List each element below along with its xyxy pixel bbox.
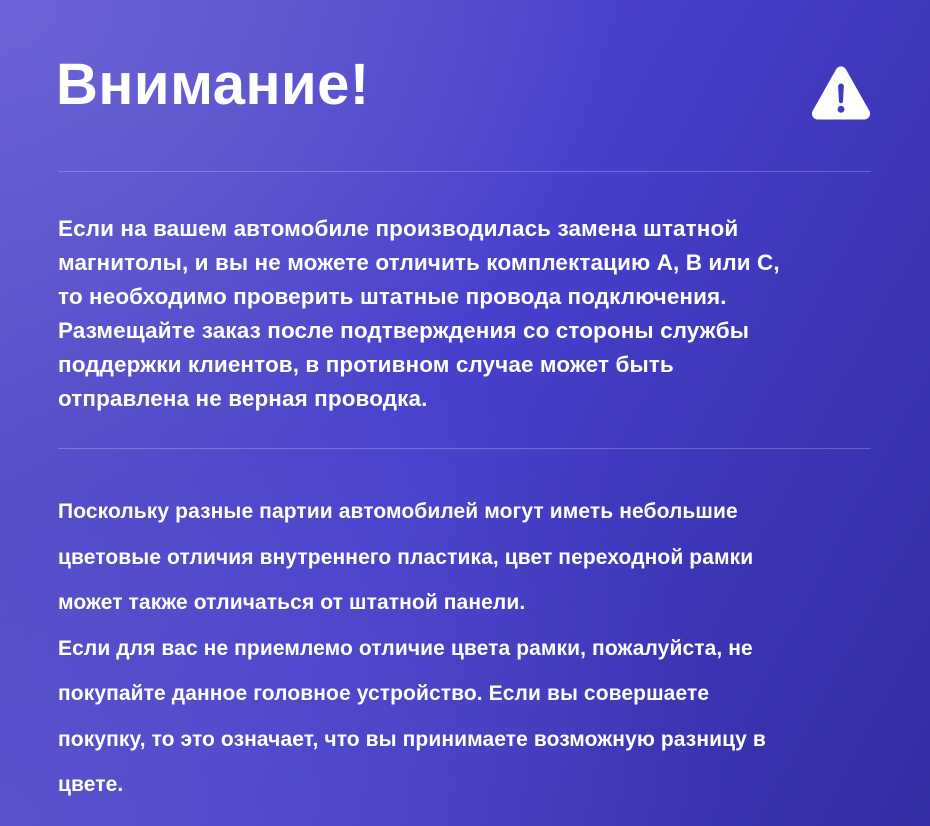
banner-header: Внимание! (56, 52, 872, 148)
text-line: покупайте данное головное устройство. Ес… (58, 671, 873, 717)
text-line: то необходимо проверить штатные провода … (58, 280, 858, 314)
text-line: Размещайте заказ после подтверждения со … (58, 314, 858, 348)
warning-text-second-paragraph-two: Если для вас не приемлемо отличие цвета … (58, 626, 873, 808)
warning-section-first: Если на вашем автомобиле производилась з… (58, 212, 858, 416)
text-line: цвете. (58, 762, 873, 808)
divider-middle (58, 448, 871, 449)
text-line: отправлена не верная проводка. (58, 382, 858, 416)
warning-triangle-icon (810, 66, 872, 124)
warning-text-first: Если на вашем автомобиле производилась з… (58, 212, 858, 416)
text-line: покупку, то это означает, что вы принима… (58, 717, 873, 763)
warning-text-second-paragraph-one: Поскольку разные партии автомобилей могу… (58, 489, 873, 626)
text-line: Если на вашем автомобиле производилась з… (58, 212, 858, 246)
text-line: может также отличаться от штатной панели… (58, 580, 873, 626)
text-line: цветовые отличия внутреннего пластика, ц… (58, 535, 873, 581)
text-line: Поскольку разные партии автомобилей могу… (58, 489, 873, 535)
text-line: магнитолы, и вы не можете отличить компл… (58, 246, 858, 280)
page-title: Внимание! (56, 52, 370, 118)
text-line: Если для вас не приемлемо отличие цвета … (58, 626, 873, 672)
text-line: поддержки клиентов, в противном случае м… (58, 348, 858, 382)
divider-top (58, 171, 871, 172)
warning-banner: Внимание! Если на вашем автомобиле произ… (0, 0, 930, 826)
warning-section-second: Поскольку разные партии автомобилей могу… (58, 489, 873, 808)
